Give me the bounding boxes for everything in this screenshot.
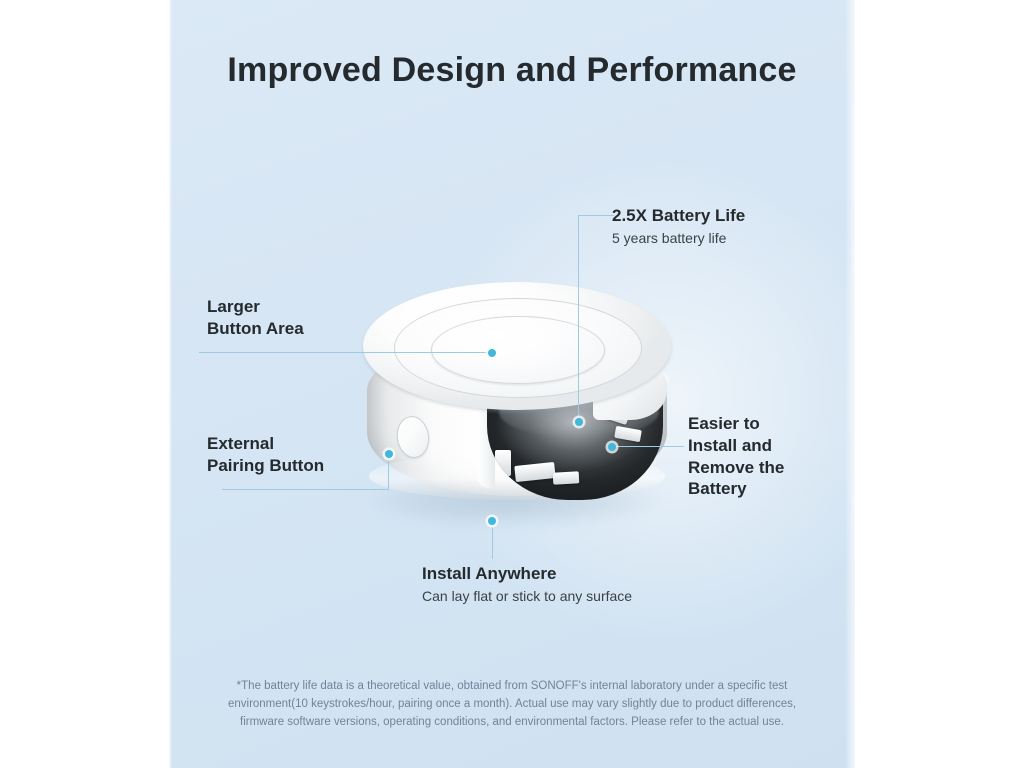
- callout-install-anywhere-subtext: Can lay flat or stick to any surface: [422, 587, 632, 605]
- callout-larger-button-area-heading: Larger Button Area: [207, 296, 304, 340]
- panel-left-edge: [169, 0, 172, 768]
- battery-contact: [495, 450, 511, 476]
- callout-larger-button-area: Larger Button Area: [207, 296, 304, 340]
- leader-dot-external-pairing: [385, 450, 393, 458]
- product-image: [347, 276, 687, 538]
- callout-install-anywhere: Install Anywhere Can lay flat or stick t…: [422, 563, 632, 605]
- callout-install-anywhere-heading: Install Anywhere: [422, 563, 632, 585]
- leader-line-external-pairing-vertical: [388, 455, 389, 490]
- panel-right-edge: [845, 0, 855, 768]
- leader-dot-larger-button: [488, 349, 496, 357]
- footnote-disclaimer: *The battery life data is a theoretical …: [222, 678, 802, 731]
- leader-dot-easier-battery: [608, 443, 616, 451]
- leader-line-external-pairing-horizontal: [222, 489, 389, 490]
- callout-battery-life-heading: 2.5X Battery Life: [612, 205, 745, 227]
- battery-contact: [553, 471, 580, 484]
- leader-dot-install-anywhere: [488, 517, 496, 525]
- leader-line-larger-button-horizontal: [199, 352, 493, 353]
- leader-line-battery-life-vertical: [578, 215, 579, 422]
- callout-battery-life: 2.5X Battery Life 5 years battery life: [612, 205, 745, 247]
- leader-line-battery-life-horizontal: [578, 215, 614, 216]
- infographic-stage: Improved Design and Performance: [0, 0, 1024, 768]
- leader-line-install-anywhere-vertical: [492, 521, 493, 559]
- leader-dot-battery-life: [575, 418, 583, 426]
- callout-external-pairing-button-heading: External Pairing Button: [207, 433, 324, 477]
- callout-easier-battery-heading: Easier to Install and Remove the Battery: [688, 413, 784, 500]
- leader-line-easier-battery-horizontal: [612, 446, 684, 447]
- callout-external-pairing-button: External Pairing Button: [207, 433, 324, 477]
- page-title: Improved Design and Performance: [169, 48, 855, 92]
- callout-easier-battery: Easier to Install and Remove the Battery: [688, 413, 784, 500]
- callout-battery-life-subtext: 5 years battery life: [612, 229, 745, 247]
